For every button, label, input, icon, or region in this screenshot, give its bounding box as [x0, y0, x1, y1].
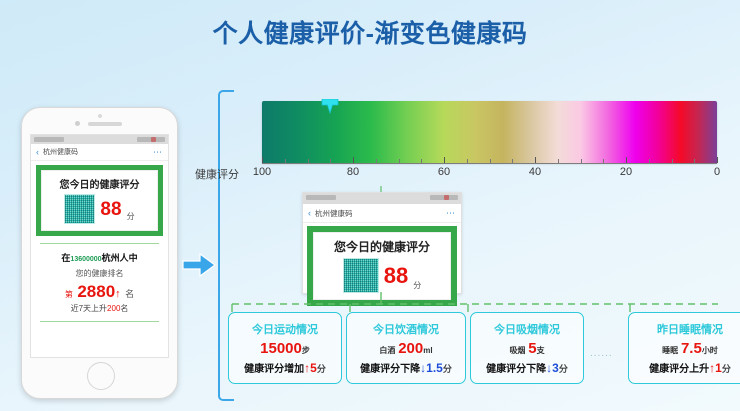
- rank-value: 2880: [77, 282, 115, 301]
- app-nav-bar: ‹ 杭州健康码 ⋯: [31, 144, 168, 161]
- qr-code-icon-right[interactable]: [343, 258, 379, 293]
- rank-up-arrow-icon: ↑: [115, 288, 121, 300]
- card-effect-value: 3: [552, 361, 559, 375]
- phone-screen-left: ‹ 杭州健康码 ⋯ 您今日的健康评分 88 分 在13600000杭州人中 您的…: [30, 134, 169, 358]
- health-code-card-right: 您今日的健康评分 88 分: [313, 232, 451, 300]
- axis-tick-minor: [649, 159, 650, 163]
- more-dots-icon-right[interactable]: ⋯: [446, 208, 456, 219]
- axis-tick-minor: [330, 159, 331, 163]
- app-title-right: 杭州健康码: [315, 208, 353, 219]
- rank-label: 您的健康排名: [31, 268, 168, 279]
- card-effect-row: 健康评分增加↑5分: [244, 360, 326, 375]
- axis-tick-major: [353, 157, 354, 163]
- score-title: 您今日的健康评分: [46, 176, 153, 191]
- axis-tick-minor: [490, 159, 491, 163]
- qr-code-icon[interactable]: [64, 194, 95, 224]
- axis-tick-minor: [376, 159, 377, 163]
- card-effect-row: 健康评分下降↓1.5分: [360, 360, 452, 375]
- card-effect-label: 健康评分上升: [649, 364, 709, 375]
- app-title: 杭州健康码: [43, 147, 78, 157]
- card-value-unit: ml: [423, 346, 432, 355]
- card-value-prefix: 睡眠: [662, 346, 678, 355]
- population-line: 在13600000杭州人中: [31, 251, 168, 264]
- battery-indicator: [151, 137, 156, 142]
- axis-tick-major: [535, 157, 536, 163]
- axis-tick-label: 100: [253, 166, 271, 178]
- sensor-icon: [75, 121, 80, 126]
- score-value: 88: [100, 200, 121, 219]
- card-effect-value: 5: [310, 361, 317, 375]
- axis-tick-label: 0: [714, 166, 720, 178]
- card-value-unit: 小时: [702, 346, 718, 355]
- phone-mockup-left: ‹ 杭州健康码 ⋯ 您今日的健康评分 88 分 在13600000杭州人中 您的…: [21, 107, 178, 399]
- home-button[interactable]: [87, 362, 115, 390]
- axis-tick-major: [626, 157, 627, 163]
- axis-tick-minor: [672, 159, 673, 163]
- right-arrow-icon: [182, 252, 216, 278]
- score-unit: 分: [127, 211, 135, 224]
- phone-screen-right: ‹ 杭州健康码 ⋯ 您今日的健康评分 88 分: [302, 192, 462, 294]
- card-value-row: 15000步: [260, 340, 310, 357]
- score-row-right: 88 分: [318, 258, 446, 293]
- card-effect-row: 健康评分下降↓3分: [486, 360, 568, 375]
- card-effect-value: 1.5: [426, 361, 443, 375]
- factor-card-exercise[interactable]: 今日运动情况 15000步 健康评分增加↑5分: [228, 312, 342, 384]
- card-value: 7.5: [681, 340, 702, 357]
- card-header: 今日饮酒情况: [373, 321, 439, 337]
- card-value-row: 白酒 200ml: [379, 340, 432, 357]
- card-value-row: 睡眠 7.5小时: [662, 340, 718, 357]
- card-value: 15000: [260, 340, 302, 357]
- card-value: 200: [398, 340, 423, 357]
- axis-tick-major: [262, 157, 263, 163]
- chevron-left-icon-right[interactable]: ‹: [308, 208, 311, 218]
- card-value-unit: 支: [537, 346, 545, 355]
- population-suffix: 杭州人中: [102, 253, 138, 263]
- score-row: 88 分: [46, 194, 153, 224]
- card-effect-unit: 分: [722, 364, 731, 374]
- card-header: 今日吸烟情况: [494, 321, 560, 337]
- axis-tick-label: 60: [438, 166, 450, 178]
- card-value-row: 吸烟 5支: [509, 340, 544, 357]
- status-bar: [31, 135, 168, 144]
- rank-value-row: 第 2880↑ 名: [31, 282, 168, 302]
- score-value-right: 88: [384, 265, 408, 287]
- card-effect-unit: 分: [443, 364, 452, 374]
- axis-tick-minor: [558, 159, 559, 163]
- card-value-prefix: 白酒: [379, 346, 395, 355]
- factor-card-list: 今日运动情况 15000步 健康评分增加↑5分 今日饮酒情况 白酒 200ml …: [228, 312, 728, 388]
- divider-top: [40, 243, 159, 244]
- health-code-frame: 您今日的健康评分 88 分: [36, 165, 163, 236]
- score-title-right: 您今日的健康评分: [318, 238, 446, 255]
- health-score-gradient-scale: 健康评分 100806040200: [262, 101, 717, 181]
- axis-tick-minor: [603, 159, 604, 163]
- card-effect-unit: 分: [559, 364, 568, 374]
- axis-tick-label: 20: [620, 166, 632, 178]
- factor-card-smoking[interactable]: 今日吸烟情况 吸烟 5支 健康评分下降↓3分: [470, 312, 584, 384]
- card-effect-label: 健康评分下降: [486, 364, 546, 375]
- rank-suffix: 名: [125, 289, 134, 299]
- more-dots-icon[interactable]: ⋯: [153, 147, 163, 158]
- front-camera-icon: [98, 114, 102, 118]
- health-code-card: 您今日的健康评分 88 分: [41, 170, 158, 231]
- factor-card-sleep[interactable]: 昨日睡眠情况 睡眠 7.5小时 健康评分上升↑1分: [628, 312, 740, 384]
- axis-tick-major: [717, 157, 718, 163]
- ellipsis-separator: ......: [590, 348, 613, 359]
- signal-icons-right: [306, 195, 336, 200]
- card-effect-row: 健康评分上升↑1分: [649, 360, 731, 375]
- rank-trend-prefix: 近7天上升: [71, 304, 107, 313]
- card-value-unit: 步: [302, 346, 310, 355]
- card-effect-label: 健康评分下降: [360, 364, 420, 375]
- card-header: 今日运动情况: [252, 321, 318, 337]
- card-value: 5: [528, 340, 536, 357]
- chevron-left-icon[interactable]: ‹: [36, 147, 39, 157]
- page-title: 个人健康评价-渐变色健康码: [0, 14, 740, 50]
- axis-tick-minor: [581, 159, 582, 163]
- scale-axis: [262, 163, 717, 164]
- axis-tick-major: [444, 157, 445, 163]
- signal-icons: [34, 137, 64, 142]
- axis-tick-label: 80: [347, 166, 359, 178]
- card-header: 昨日睡眠情况: [657, 321, 723, 337]
- card-effect-value: 1: [715, 361, 722, 375]
- app-nav-bar-right: ‹ 杭州健康码 ⋯: [303, 204, 461, 223]
- divider-bottom: [40, 321, 159, 322]
- earpiece-speaker: [88, 122, 122, 126]
- rank-trend: 近7天上升200名: [31, 303, 168, 314]
- current-score-marker[interactable]: [321, 99, 339, 114]
- axis-tick-minor: [399, 159, 400, 163]
- axis-tick-minor: [694, 159, 695, 163]
- card-value-prefix: 吸烟: [509, 346, 525, 355]
- card-effect-label: 健康评分增加: [244, 364, 304, 375]
- axis-tick-minor: [512, 159, 513, 163]
- axis-tick-minor: [285, 159, 286, 163]
- rank-prefix: 第: [65, 290, 73, 299]
- axis-tick-minor: [308, 159, 309, 163]
- health-code-frame-right: 您今日的健康评分 88 分: [307, 226, 457, 306]
- axis-tick-label: 40: [529, 166, 541, 178]
- axis-tick-minor: [421, 159, 422, 163]
- axis-tick-minor: [467, 159, 468, 163]
- rank-trend-suffix: 名: [120, 304, 128, 313]
- axis-name-label: 健康评分: [195, 166, 239, 182]
- status-bar-right: [303, 193, 461, 204]
- factor-card-alcohol[interactable]: 今日饮酒情况 白酒 200ml 健康评分下降↓1.5分: [346, 312, 466, 384]
- rank-trend-value: 200: [107, 304, 120, 313]
- card-effect-unit: 分: [317, 364, 326, 374]
- population-count: 13600000: [70, 256, 101, 263]
- scale-tick-labels: 健康评分 100806040200: [262, 166, 717, 181]
- battery-indicator-right: [444, 195, 449, 200]
- score-unit-right: 分: [413, 280, 421, 293]
